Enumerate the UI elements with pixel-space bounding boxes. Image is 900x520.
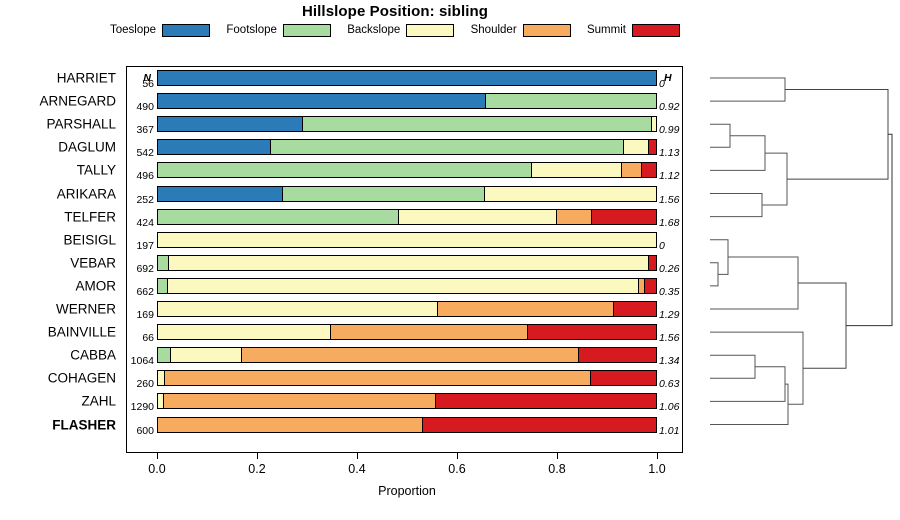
bar-segment-summit <box>649 256 656 270</box>
bar-segment-shoulder <box>242 348 580 362</box>
bar-segment-summit <box>614 302 656 316</box>
bar-zahl[interactable] <box>157 393 657 409</box>
dendrogram-link <box>710 124 730 147</box>
bar-parshall[interactable] <box>157 116 657 132</box>
x-axis-tick <box>557 453 558 459</box>
dendrogram-link <box>710 240 728 275</box>
x-axis-tick <box>257 453 258 459</box>
dendrogram-link <box>762 153 787 205</box>
bar-segment-backslope <box>652 117 656 131</box>
dendrogram-link <box>710 332 803 404</box>
dendrogram-link <box>710 78 785 101</box>
x-axis-tick <box>457 453 458 459</box>
dendrogram-link <box>710 136 765 171</box>
bar-segment-shoulder <box>438 302 614 316</box>
bar-arikara[interactable] <box>157 186 657 202</box>
bar-segment-shoulder <box>622 163 642 177</box>
bar-segment-backslope <box>399 210 557 224</box>
bar-flasher[interactable] <box>157 417 657 433</box>
bar-segment-backslope <box>158 233 656 247</box>
bar-cabba[interactable] <box>157 347 657 363</box>
bar-segment-shoulder <box>165 371 591 385</box>
x-axis-tick-label: 0.6 <box>448 462 465 476</box>
bar-segment-summit <box>649 140 656 154</box>
chart-root: Hillslope Position: sibling ToeslopeFoot… <box>0 0 900 520</box>
bar-werner[interactable] <box>157 301 657 317</box>
bar-segment-backslope <box>158 302 438 316</box>
bar-segment-shoulder <box>557 210 592 224</box>
dendrogram-link <box>710 194 762 217</box>
bar-segment-shoulder <box>158 418 423 432</box>
bar-vebar[interactable] <box>157 255 657 271</box>
bar-segment-footslope <box>158 279 168 293</box>
bar-segment-summit <box>528 325 656 339</box>
bar-segment-footslope <box>303 117 652 131</box>
dendrogram <box>700 60 900 460</box>
bar-segment-summit <box>591 371 656 385</box>
bar-segment-backslope <box>168 279 639 293</box>
x-axis-tick-label: 0.4 <box>348 462 365 476</box>
bar-segment-toeslope <box>158 94 486 108</box>
bar-segment-summit <box>645 279 656 293</box>
bar-segment-footslope <box>283 187 485 201</box>
dendrogram-link <box>798 283 846 368</box>
bar-amor[interactable] <box>157 278 657 294</box>
bar-segment-summit <box>436 394 656 408</box>
bar-segment-footslope <box>158 348 171 362</box>
x-axis-tick-label: 0.2 <box>248 462 265 476</box>
bar-segment-footslope <box>158 163 532 177</box>
dendrogram-link <box>710 355 755 378</box>
x-axis-tick <box>357 453 358 459</box>
bar-segment-backslope <box>532 163 623 177</box>
bar-cohagen[interactable] <box>157 370 657 386</box>
bar-segment-backslope <box>169 256 649 270</box>
dendrogram-link <box>785 90 888 180</box>
bar-segment-footslope <box>158 210 399 224</box>
bar-segment-backslope <box>485 187 656 201</box>
bar-telfer[interactable] <box>157 209 657 225</box>
bar-segment-footslope <box>486 94 656 108</box>
x-axis-tick-label: 0.0 <box>148 462 165 476</box>
bar-segment-summit <box>579 348 656 362</box>
bar-beisigl[interactable] <box>157 232 657 248</box>
bar-segment-footslope <box>158 256 169 270</box>
bar-segment-backslope <box>158 371 165 385</box>
bar-bainville[interactable] <box>157 324 657 340</box>
bar-segment-summit <box>592 210 656 224</box>
bar-segment-shoulder <box>164 394 436 408</box>
bar-segment-toeslope <box>158 187 283 201</box>
bar-segment-toeslope <box>158 140 271 154</box>
dendrogram-link <box>710 367 785 402</box>
bar-tally[interactable] <box>157 162 657 178</box>
bar-segment-toeslope <box>158 71 656 85</box>
x-axis-tick <box>657 453 658 459</box>
dendrogram-link <box>710 263 718 286</box>
dendrogram-link <box>710 257 798 309</box>
bar-segment-toeslope <box>158 117 303 131</box>
bar-segment-summit <box>423 418 656 432</box>
bar-segment-backslope <box>158 325 331 339</box>
bar-daglum[interactable] <box>157 139 657 155</box>
x-axis-tick <box>157 453 158 459</box>
bar-segment-shoulder <box>331 325 527 339</box>
bar-arnegard[interactable] <box>157 93 657 109</box>
bar-segment-summit <box>642 163 656 177</box>
bar-segment-backslope <box>171 348 242 362</box>
bar-segment-backslope <box>624 140 649 154</box>
bar-segment-footslope <box>271 140 625 154</box>
x-axis-title: Proportion <box>157 484 657 498</box>
bar-harriet[interactable] <box>157 70 657 86</box>
x-axis-tick-label: 1.0 <box>648 462 665 476</box>
x-axis-tick-label: 0.8 <box>548 462 565 476</box>
dendrogram-link <box>846 134 892 325</box>
dendrogram-link <box>718 384 788 424</box>
